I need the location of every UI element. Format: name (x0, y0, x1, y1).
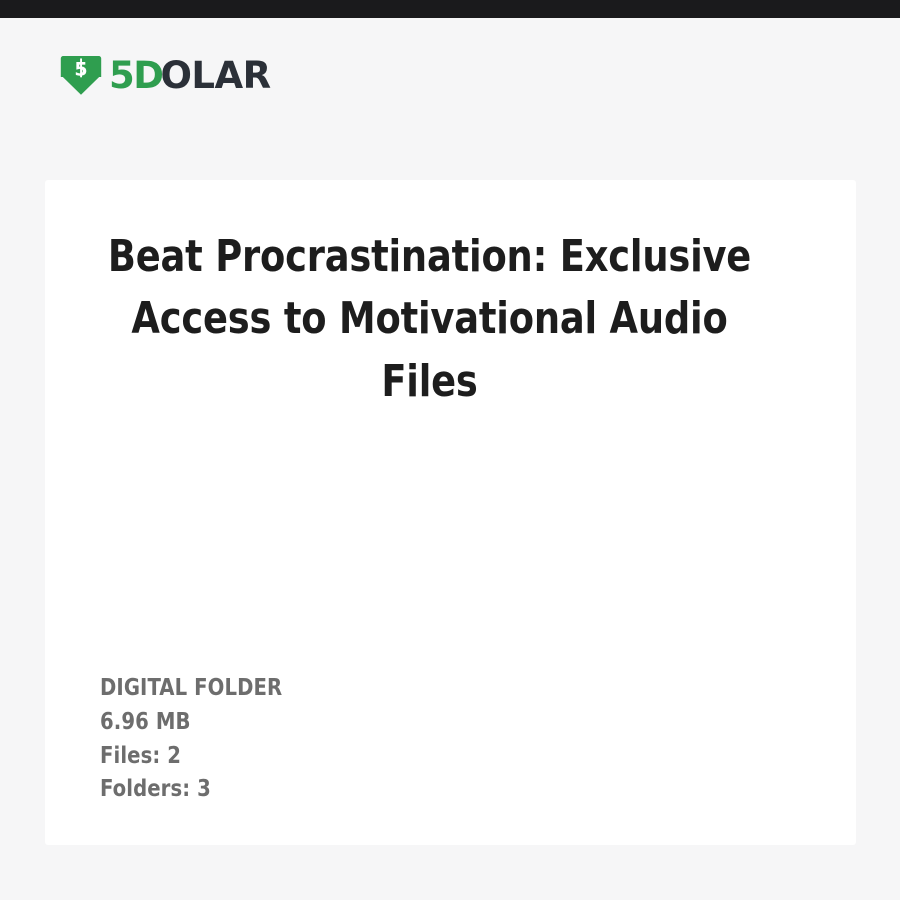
product-files-count: Files: 2 (100, 740, 282, 774)
product-folders-count: Folders: 3 (100, 773, 282, 807)
brand-wordmark-dark: OLAR (160, 57, 270, 94)
product-type-label: DIGITAL FOLDER (100, 672, 282, 706)
brand-logo-mark: 5 (60, 53, 102, 97)
site-header: 5 5D OLAR (0, 18, 900, 180)
brand-wordmark-green: 5D (109, 57, 162, 94)
product-meta-block: DIGITAL FOLDER 6.96 MB Files: 2 Folders:… (100, 672, 282, 807)
product-card: Beat Procrastination: Exclusive Access t… (45, 180, 856, 845)
brand-logo-link[interactable]: 5 5D OLAR (60, 52, 271, 98)
top-bar (0, 0, 900, 18)
product-title: Beat Procrastination: Exclusive Access t… (81, 226, 778, 413)
dollar-badge-down-arrow-icon: 5 (60, 53, 102, 97)
brand-logo-wordmark: 5D OLAR (109, 57, 271, 94)
product-size-label: 6.96 MB (100, 706, 282, 740)
